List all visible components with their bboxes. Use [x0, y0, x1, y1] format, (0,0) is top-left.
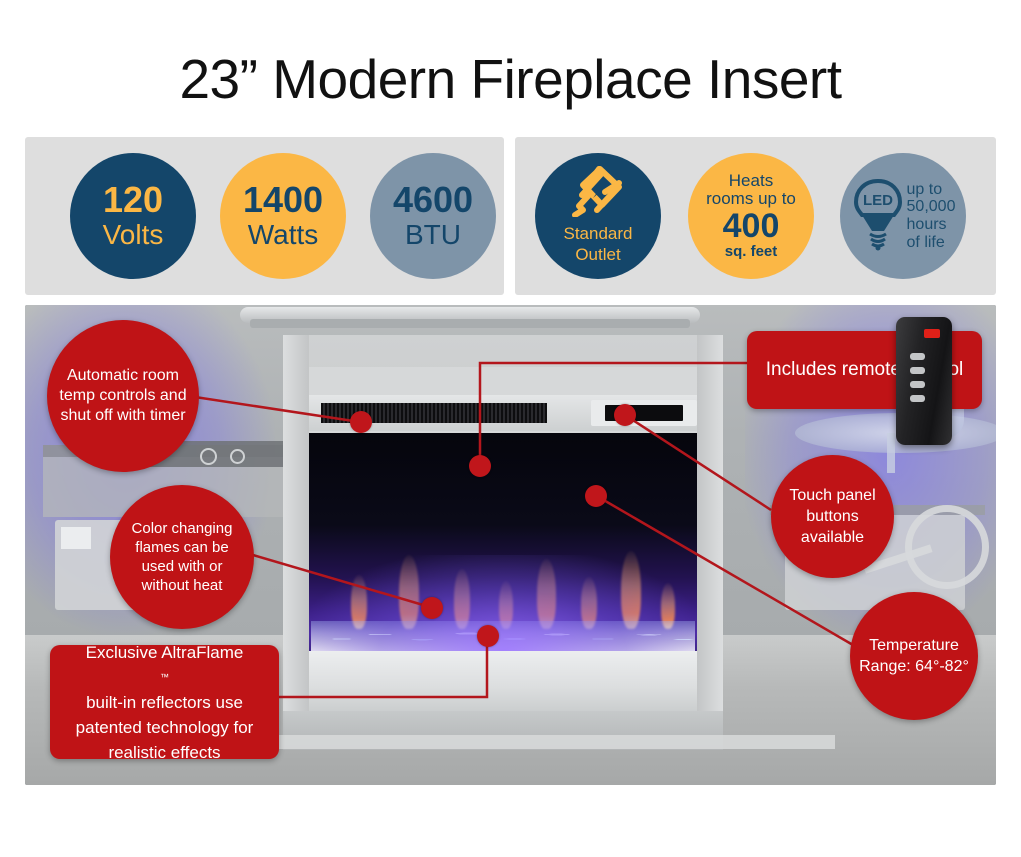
spec-badge-heats-rooms: Heats rooms up to 400 sq. feet — [688, 153, 814, 279]
spec-panel-right: Standard Outlet Heats rooms up to 400 sq… — [515, 137, 996, 295]
marker-dot-touch-panel — [614, 404, 636, 426]
callout-temperature-text: Temperature Range: 64°-82° — [850, 635, 978, 677]
heats-line2: rooms up to — [706, 190, 796, 208]
marker-dot-vent — [350, 411, 372, 433]
led-bulb-icon: LED — [851, 177, 905, 256]
power-plug-icon — [569, 165, 627, 222]
spec-value-btu: 4600 — [393, 182, 473, 218]
spec-badge-volts: 120 Volts — [70, 153, 196, 279]
remote-button-4[interactable] — [910, 395, 925, 402]
led-line4: of life — [907, 234, 956, 252]
callout-auto-temp[interactable]: Automatic room temp controls and shut of… — [47, 320, 199, 472]
callout-color-flames-text: Color changing flames can be used with o… — [110, 519, 254, 595]
spec-panel-left: 120 Volts 1400 Watts 4600 BTU — [25, 137, 504, 295]
trademark-symbol: ™ — [58, 665, 271, 690]
spec-label-btu: BTU — [405, 220, 461, 249]
callout-color-flames[interactable]: Color changing flames can be used with o… — [110, 485, 254, 629]
led-line3: hours — [907, 216, 956, 234]
spec-badge-led-life: LED up to 50,000 hours of life — [840, 153, 966, 279]
spec-label-outlet-line2: Outlet — [575, 246, 620, 264]
marker-dot-firebox-right — [585, 485, 607, 507]
spec-label-watts: Watts — [248, 220, 319, 249]
heats-unit: sq. feet — [725, 243, 778, 260]
callout-auto-temp-text: Automatic room temp controls and shut of… — [47, 366, 199, 426]
spec-label-outlet-line1: Standard — [564, 225, 633, 243]
spec-badge-standard-outlet: Standard Outlet — [535, 153, 661, 279]
led-line2: 50,000 — [907, 198, 956, 216]
heats-line1: Heats — [729, 172, 773, 190]
callout-touch-panel-text: Touch panel buttons available — [771, 485, 894, 548]
marker-dot-flame — [421, 597, 443, 619]
callout-exclusive-reflectors[interactable]: Exclusive AltraFlame™ built-in reflector… — [50, 645, 279, 759]
spec-badge-watts: 1400 Watts — [220, 153, 346, 279]
spec-badge-row: 120 Volts 1400 Watts 4600 BTU — [25, 137, 996, 295]
remote-button-1[interactable] — [910, 353, 925, 360]
callout-temperature-range[interactable]: Temperature Range: 64°-82° — [850, 592, 978, 720]
spec-label-volts: Volts — [103, 220, 164, 249]
remote-control-image — [896, 317, 952, 445]
marker-dot-ember-bed — [477, 625, 499, 647]
svg-text:LED: LED — [863, 192, 893, 209]
callout-exclusive-pre: Exclusive AltraFlame — [58, 640, 271, 665]
spec-value-watts: 1400 — [243, 182, 323, 218]
heats-value: 400 — [723, 209, 780, 243]
page-title: 23” Modern Fireplace Insert — [0, 48, 1021, 110]
led-life-text: up to 50,000 hours of life — [907, 181, 956, 251]
marker-dot-firebox-top — [469, 455, 491, 477]
callout-exclusive-text: Exclusive AltraFlame™ built-in reflector… — [50, 640, 279, 765]
led-line1: up to — [907, 181, 956, 199]
product-photo-panel: Automatic room temp controls and shut of… — [25, 305, 996, 785]
spec-badge-btu: 4600 BTU — [370, 153, 496, 279]
callout-exclusive-post: built-in reflectors use patented technol… — [58, 690, 271, 765]
spec-value-volts: 120 — [103, 182, 163, 218]
remote-power-button[interactable] — [924, 329, 940, 338]
callout-touch-panel[interactable]: Touch panel buttons available — [771, 455, 894, 578]
remote-button-2[interactable] — [910, 367, 925, 374]
remote-button-3[interactable] — [910, 381, 925, 388]
